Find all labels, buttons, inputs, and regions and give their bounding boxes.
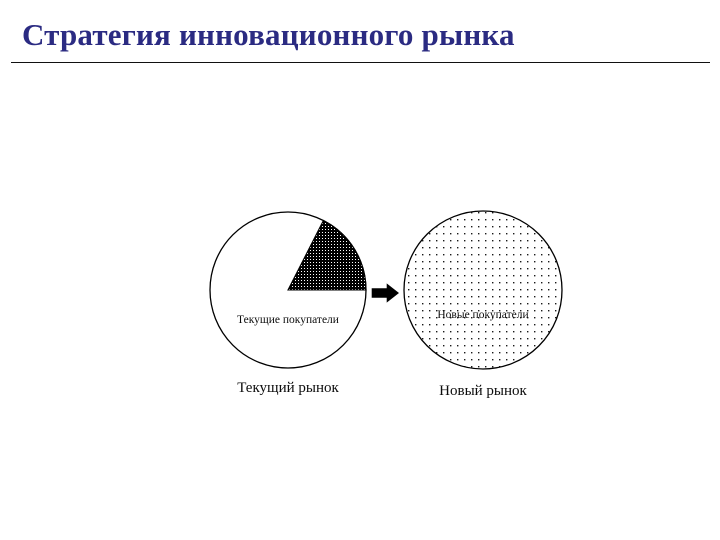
- new-market-circle-outline: [404, 211, 562, 369]
- current-market-caption: Текущий рынок: [188, 379, 388, 397]
- slide-canvas: Стратегия инновационного рынка: [0, 0, 720, 540]
- current-market-circle: [210, 212, 366, 368]
- right-arrow-icon: [372, 284, 399, 302]
- new-market-caption: Новый рынок: [383, 382, 583, 400]
- right-arrow-shape: [372, 284, 399, 302]
- new-market-circle: [404, 211, 562, 369]
- current-buyers-label: Текущие покупатели: [188, 313, 388, 327]
- new-buyers-label: Новые покупатели: [383, 308, 583, 322]
- market-strategy-diagram: Текущие покупатели Новые покупатели Теку…: [0, 0, 720, 540]
- diagram-canvas: [0, 0, 720, 540]
